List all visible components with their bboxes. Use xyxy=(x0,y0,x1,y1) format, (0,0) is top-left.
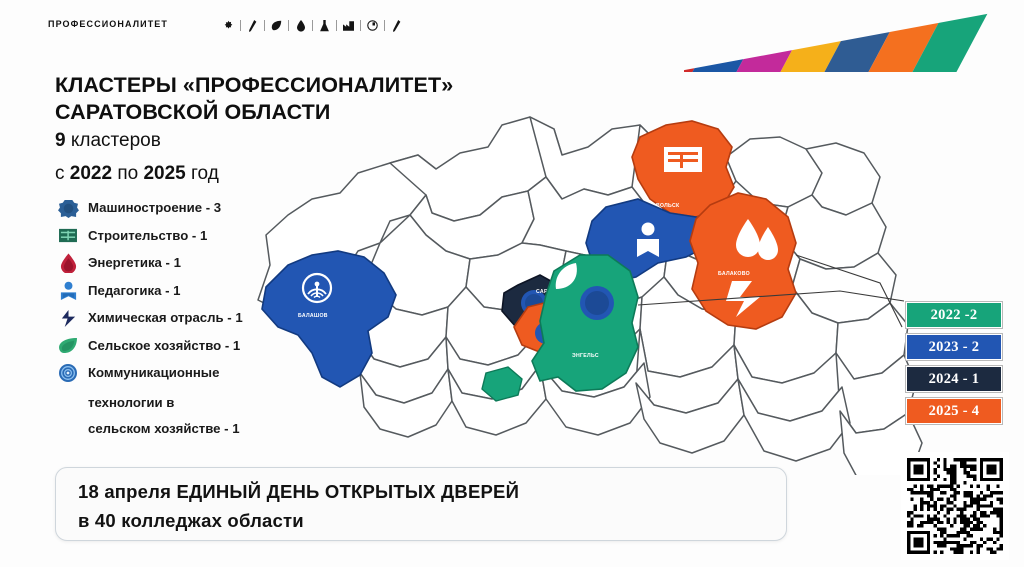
divider xyxy=(240,20,241,31)
poster-root: ПРОФЕССИОНАЛИТЕТ xyxy=(0,0,1024,567)
clock-icon xyxy=(366,18,379,33)
legend-item-pedagogy: Педагогика - 1 xyxy=(57,281,347,302)
flask-icon xyxy=(318,18,331,33)
pencil-icon xyxy=(246,18,259,33)
year-2022[interactable]: 2022 -2 xyxy=(906,302,1002,328)
legend-label: Коммуникационные xyxy=(88,363,219,382)
legend-item-chemistry: Химическая отрасль - 1 xyxy=(57,308,347,329)
page-title: КЛАСТЕРЫ «ПРОФЕССИОНАЛИТЕТ» САРАТОВСКОЙ … xyxy=(55,72,475,126)
header-bar: ПРОФЕССИОНАЛИТЕТ xyxy=(0,0,700,56)
range-suffix: год xyxy=(186,163,219,184)
drop-icon xyxy=(294,18,307,33)
legend-continuation-2: сельском хозяйстве - 1 xyxy=(88,421,347,436)
year-legend: 2022 -2 2023 - 2 2024 - 1 2025 - 4 xyxy=(906,302,1002,430)
banner-line-1: 18 апреля ЕДИНЫЙ ДЕНЬ ОТКРЫТЫХ ДВЕРЕЙ xyxy=(78,481,519,503)
legend-item-machinery: Машиностроение - 3 xyxy=(57,198,347,219)
cluster-count-value: 9 xyxy=(55,130,66,151)
legend-label: Строительство - 1 xyxy=(88,226,207,245)
year-2023[interactable]: 2023 - 2 xyxy=(906,334,1002,360)
stripe-2 xyxy=(716,0,840,72)
header-icon-strip xyxy=(222,18,403,33)
stripe-5 xyxy=(848,0,972,72)
date-range: с 2022 по 2025 год xyxy=(55,163,219,185)
legend-label: Энергетика - 1 xyxy=(88,253,181,272)
region-balakovo: БАЛАКОВО xyxy=(690,193,796,329)
legend-label: Сельское хозяйство - 1 xyxy=(88,336,240,355)
divider xyxy=(336,20,337,31)
divider xyxy=(312,20,313,31)
legend-item-construction: Строительство - 1 xyxy=(57,226,347,247)
open-doors-banner: 18 апреля ЕДИНЫЙ ДЕНЬ ОТКРЫТЫХ ДВЕРЕЙ в … xyxy=(55,467,787,541)
divider xyxy=(384,20,385,31)
title-line-2: САРАТОВСКОЙ ОБЛАСТИ xyxy=(55,99,475,126)
legend-item-communications: Коммуникационные xyxy=(57,363,347,384)
range-mid: по xyxy=(112,163,143,184)
stripe-3 xyxy=(760,0,884,72)
stripe-6 xyxy=(892,0,1016,72)
legend-continuation-1: технологии в xyxy=(88,395,347,410)
stripe-1 xyxy=(684,0,796,72)
map-label-balakovo: БАЛАКОВО xyxy=(718,271,750,277)
qr-code[interactable] xyxy=(901,452,1009,560)
range-prefix: с xyxy=(55,163,70,184)
divider xyxy=(360,20,361,31)
legend-item-agriculture: Сельское хозяйство - 1 xyxy=(57,336,347,357)
map-label-engels: ЭНГЕЛЬС xyxy=(572,353,599,359)
leaf-icon xyxy=(270,18,283,33)
year-2024[interactable]: 2024 - 1 xyxy=(906,366,1002,392)
legend-label: Педагогика - 1 xyxy=(88,281,180,300)
factory-icon xyxy=(342,18,355,33)
legend-label: Машиностроение - 3 xyxy=(88,198,221,217)
chemistry-icon xyxy=(57,308,79,328)
legend-item-energy: Энергетика - 1 xyxy=(57,253,347,274)
communications-icon xyxy=(57,363,79,383)
energy-icon xyxy=(57,253,79,273)
range-to: 2025 xyxy=(143,163,185,184)
stripe-4 xyxy=(804,0,928,72)
brush-icon xyxy=(390,18,403,33)
decorative-stripes xyxy=(684,0,1024,72)
banner-line-2: в 40 колледжах области xyxy=(78,510,304,532)
year-2025[interactable]: 2025 - 4 xyxy=(906,398,1002,424)
divider xyxy=(288,20,289,31)
gear-icon xyxy=(222,18,235,33)
pedagogy-icon xyxy=(57,281,79,301)
brand-logo: ПРОФЕССИОНАЛИТЕТ xyxy=(48,19,168,29)
legend-label: Химическая отрасль - 1 xyxy=(88,308,243,327)
cluster-count-word: кластеров xyxy=(66,130,161,151)
range-from: 2022 xyxy=(70,163,112,184)
machinery-icon xyxy=(57,198,79,218)
stripes-mask xyxy=(684,0,1024,72)
cluster-count: 9 кластеров xyxy=(55,130,161,152)
agriculture-icon xyxy=(57,336,79,356)
divider xyxy=(264,20,265,31)
construction-icon xyxy=(57,226,79,246)
title-line-1: КЛАСТЕРЫ «ПРОФЕССИОНАЛИТЕТ» xyxy=(55,72,475,99)
cluster-legend: Машиностроение - 3 Строительство - 1 xyxy=(57,198,347,436)
